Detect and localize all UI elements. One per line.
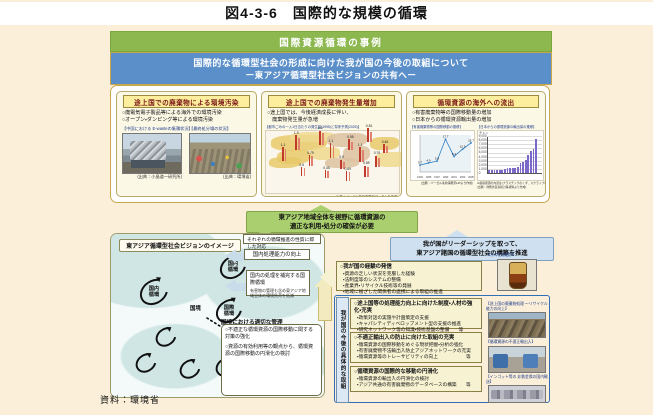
- map-bar: [383, 144, 385, 153]
- bullet: ○日本からの循環資源輸出量の増加: [412, 117, 545, 124]
- panel-pollution: 途上国での廃棄物による環境汚染 ○廃電気電子製品等による海外での環境汚染 ○オー…: [116, 91, 257, 197]
- map-bar-value: 0.55: [347, 135, 354, 139]
- y-tick-label: 7,000: [479, 142, 487, 146]
- action-box-facilitation: ○循環資源の国際的な移動の円滑化 ・循環資源の輸出入の円滑化の検討 ・アジア共通…: [350, 366, 482, 392]
- figure-title: 図4-3-6 国際的な規模の循環: [0, 2, 653, 24]
- map-bar: [298, 138, 300, 149]
- map-bar: [309, 155, 311, 165]
- map-bar: [304, 168, 306, 175]
- experience-heading: ○我が国の経験の発信: [340, 264, 478, 271]
- map-bar: [359, 147, 361, 162]
- center-callout-line1: 東アジア地域全体を視野に循環資源の: [279, 213, 386, 222]
- panel-pollution-title: 途上国での廃棄物による環境汚染: [123, 95, 250, 108]
- map-bar-value: 0.81: [366, 124, 373, 128]
- x-tick-label: 2005: [468, 175, 474, 179]
- x-tick-label: 1993: [417, 175, 423, 179]
- action-item: ・循環資源等のトレーサビリティの向上 等: [354, 354, 478, 360]
- photo-developing-country-recycling: [488, 312, 546, 338]
- source-label: 資料：環境省: [100, 393, 160, 406]
- arrow-left-experience-icon: [320, 265, 334, 289]
- map-bar-value: 1.1: [358, 143, 363, 147]
- bullet: 廃棄物発生量が急増: [267, 117, 401, 124]
- blue-banner: 国際的な循環型社会の形成に向けた我が国の今後の取組について ー東アジア循環型社会…: [110, 52, 552, 85]
- x-tick-label: 1995: [426, 175, 432, 179]
- y-tick-label: 5,000: [479, 150, 487, 154]
- flow-box-international-sub: 有害物の管理も含め東アジア地域全体の環境負荷を低減: [250, 288, 306, 298]
- right-photo-4: 【インゴット等の 非鉄金属の国内輸送】: [486, 375, 548, 403]
- panel-outflow: 循環資源の海外への流出 ○有害廃棄物等の国際移動量の増加 ○日本からの循環資源輸…: [406, 91, 546, 197]
- bar: [522, 162, 524, 174]
- map-bar: [386, 146, 388, 153]
- bullet: ○有害廃棄物等の国際移動量の増加: [412, 110, 545, 117]
- experience-box: ○我が国の経験の発信 ・資源の乏しい状況を克服した経験 ・法制度等のシステムの整…: [336, 261, 482, 291]
- bar: [527, 155, 529, 174]
- map-bar: [362, 150, 364, 162]
- line-point-label: 12.3: [460, 145, 466, 149]
- green-banner-label: 国際資源循環の事例: [279, 35, 383, 49]
- border-bullet: ○資源の有効利用等の観点から、循環資源の国際移動の円滑化の検討: [225, 344, 318, 357]
- x-tick-label: 2001: [451, 175, 457, 179]
- flow-box-top: それぞれの循環推進の性質に即した対応: [243, 234, 321, 244]
- map-bar: [351, 142, 353, 150]
- figure-truck-credit: (出典：小島道一研究所): [122, 174, 182, 180]
- x-tick-label: 2003: [460, 175, 466, 179]
- figure-dump-credit: (出典：環境省): [189, 174, 251, 180]
- panel-waste-growth-title: 途上国での廃棄物発生量増加: [268, 95, 395, 108]
- figure-waste-map-credit: (出典：バーゼル条約事務局データより作成): [265, 194, 398, 197]
- panel-pollution-bullets: ○廃電気電子製品等による海外での環境汚染 ○オープン・ダンピング等による環境汚染: [122, 110, 256, 123]
- right-photo-2-caption: 【途上国の廃棄物処理 ～リサイクル能力の向上】: [486, 302, 548, 311]
- x-tick-label: 1999: [443, 175, 449, 179]
- line-point-label: 4.9: [426, 158, 431, 162]
- y-tick-label: 8,000: [479, 138, 487, 142]
- leadership-line1: 我が国がリーダーシップを取って、: [423, 240, 521, 249]
- center-callout-line2: 適正な利用・処分の確保が必要: [290, 222, 374, 231]
- figure-waste-map-caption: 【都市ごみの一人1日当たりの発生量(1995)と将来予測(2025)】: [265, 124, 399, 129]
- map-bar: [295, 135, 297, 149]
- map-bar: [285, 149, 287, 161]
- y-tick-label: 1,000: [479, 167, 487, 171]
- y-tick-label: 6,000: [479, 146, 487, 150]
- map-bar: [367, 167, 369, 177]
- bullet: ○オープン・ダンピング等による環境汚染: [122, 117, 256, 124]
- gridline: [487, 140, 542, 141]
- map-bar-value: 0.45: [323, 166, 330, 170]
- photo-e-waste-truck: [122, 133, 182, 174]
- line-point-label: 17.7: [443, 135, 449, 139]
- panel-outflow-bullets: ○有害廃棄物等の国際移動量の増加 ○日本からの循環資源輸出量の増加: [412, 110, 545, 123]
- bar: [530, 151, 532, 174]
- figure-truck-caption: 【中国における E-wasteの集積状況】: [122, 126, 184, 132]
- right-photo-3-caption: 【循環資源の不適正輸出入】: [486, 340, 548, 345]
- map-bar: [311, 156, 313, 166]
- figure-canvas: 国際資源循環の事例 国際的な循環型社会の形成に向けた我が国の今後の取組について …: [0, 25, 653, 415]
- line-chart-svg: 3.74.95.917.78.412.315.71993199519971999…: [411, 131, 474, 180]
- map-bar-value: 0.5: [339, 155, 344, 159]
- action-box-capacity: ○途上国等の処理能力向上に向けた制度・人材の強化・充実 ・政策対話の実施や計画策…: [350, 298, 482, 329]
- line-point-label: 5.9: [435, 156, 440, 160]
- leadership-callout-arrow-icon: [446, 230, 468, 237]
- y-tick-label: 0: [479, 171, 481, 175]
- border-bullet: ○不適正な循環資源の国際移動に関する対策の強化: [225, 327, 318, 340]
- map-bar-value: 1.0: [318, 126, 323, 130]
- y-tick-label: 4,000: [479, 155, 487, 159]
- panel-waste-growth-bullets: ○途上国では、今後経済成長に伴い、 廃棄物発生量が急増: [267, 110, 401, 123]
- action-box-illegal-trade: ○不適正輸出入の防止に向けた取組の充実 ・循環資源の国際移動をめぐる現状把握・分…: [350, 332, 482, 363]
- map-bar-value: 0.5: [299, 163, 304, 167]
- line-point-label: 3.7: [418, 161, 423, 165]
- gridline: [487, 136, 542, 137]
- flow-box-capacity: 国内処理能力の向上: [244, 249, 310, 260]
- map-bar-value: 0.79: [307, 151, 314, 155]
- arrow-left-intl-bar: [236, 283, 246, 291]
- border-management-box: ○不適正な循環資源の国際移動に関する対策の強化 ○資源の有効利用等の観点から、循…: [221, 324, 322, 396]
- photo-illegal-export-drums: [488, 346, 546, 373]
- map-bar-value: 0.76: [374, 151, 381, 155]
- chart-hazardous-waste-movement: 3.74.95.917.78.412.315.71993199519971999…: [410, 130, 475, 181]
- chart-waste-generation-map: 1.11.00.791.01.10.50.551.10.810.760.460.…: [265, 130, 400, 194]
- map-bar-value: 0.89: [363, 161, 370, 165]
- map-bar: [378, 158, 380, 167]
- arrow-up-yellow-icon: [318, 285, 332, 321]
- figure-export-credit: (出典：財務省貿易統計等資料より作成): [477, 185, 542, 189]
- figure-export-bar: 【日本からの循環資源の輸出量の推移】 01,0002,0003,0004,000…: [477, 124, 543, 189]
- x-tick-label: 1997: [434, 175, 440, 179]
- y-tick-label: 3,000: [479, 159, 487, 163]
- blue-banner-line2: ー東アジア循環型社会ビジョンの共有へー: [246, 69, 417, 81]
- experience-item: ・地域に根ざした関係者の連携による取組の推進: [340, 289, 478, 295]
- map-bar: [330, 143, 332, 158]
- map-bar: [282, 147, 284, 160]
- action-item: ・アジア共通の有害廃棄物のデータベースの構築 等: [354, 382, 478, 388]
- bar: [533, 149, 535, 174]
- line-point-label: 8.4: [452, 152, 457, 156]
- map-bar: [364, 166, 366, 177]
- bullet: ○廃電気電子製品等による海外での環境汚染: [122, 110, 256, 117]
- map-bar: [349, 172, 351, 181]
- y-axis: [487, 137, 488, 173]
- panel-waste-growth: 途上国での廃棄物発生量増加 ○途上国では、今後経済成長に伴い、 廃棄物発生量が急…: [261, 91, 402, 197]
- map-bar-value: 0.69: [344, 167, 351, 171]
- gridline: [487, 144, 542, 145]
- flow-box-international: 国内の処理を補完する国際循環 有害物の管理も含め東アジア地域全体の環境負荷を低減: [246, 270, 310, 296]
- map-bar-value: 1.1: [329, 139, 334, 143]
- figure-dump-caption: 【最終処分場の状況】: [189, 126, 253, 132]
- y-tick-label: 2,000: [479, 163, 487, 167]
- blue-banner-line1: 国際的な循環型社会の形成に向けた我が国の今後の取組について: [193, 57, 468, 69]
- photo-metal-ingots: [488, 385, 546, 403]
- right-photo-1-caption: 【ガス化溶融炉】: [486, 253, 548, 258]
- chart-japan-resource-export: 01,0002,0003,0004,0005,0006,0007,0008,00…: [477, 130, 544, 181]
- figure-hazmat-caption: 【有害廃棄物等の国際移動の推移】: [410, 124, 474, 129]
- map-bar-value: 1.1: [281, 143, 286, 147]
- map-bar: [346, 171, 348, 181]
- arrow-left-intl-icon: [225, 279, 236, 293]
- map-bar: [322, 133, 324, 144]
- figure-hazmat-credit: (出典：バーゼル条約事務局HPより作成): [410, 181, 473, 185]
- map-bar-value: 1.0: [294, 131, 299, 135]
- panel-outflow-title: 循環資源の海外への流出: [413, 95, 539, 108]
- right-photo-1: 【ガス化溶融炉】: [486, 253, 548, 291]
- right-photo-4-caption: 【インゴット等の 非鉄金属の国内輸送】: [486, 375, 548, 384]
- green-banner: 国際資源循環の事例: [110, 31, 552, 52]
- map-bar: [327, 171, 329, 178]
- center-callout-body: 東アジア地域全体を視野に循環資源の 適正な利用・処分の確保が必要: [246, 211, 418, 233]
- map-bar: [319, 131, 321, 145]
- map-bar: [301, 167, 303, 175]
- photo-landfill: [189, 133, 251, 174]
- bar: [525, 160, 527, 174]
- figure-truck: 【中国における E-wasteの集積状況】 (出典：小島道一研究所): [122, 126, 184, 180]
- figure-export-caption: 【日本からの循環資源の輸出量の推移】: [477, 124, 543, 129]
- action-heading: ○途上国等の処理能力向上に向けた制度・人材の強化・充実: [354, 301, 478, 315]
- right-photo-2: 【途上国の廃棄物処理 ～リサイクル能力の向上】: [486, 302, 548, 338]
- map-bar: [367, 128, 369, 142]
- action-heading: ○不適正輸出入の防止に向けた取組の充実: [354, 335, 478, 342]
- arrow-left-capacity-icon: [225, 249, 236, 263]
- map-bar: [370, 132, 372, 142]
- map-bar: [375, 156, 377, 167]
- y-axis-label: 千トン: [479, 131, 488, 135]
- arrow-left-capacity-bar: [236, 253, 244, 261]
- map-bar-value: 0.46: [382, 140, 389, 144]
- evidence-panel: 途上国での廃棄物による環境汚染 ○廃電気電子製品等による海外での環境汚染 ○オー…: [110, 85, 550, 203]
- x-axis: [487, 173, 542, 174]
- map-bar: [348, 139, 350, 149]
- bullet: ○途上国では、今後経済成長に伴い、: [267, 110, 401, 117]
- figure-waste-map: 【都市ごみの一人1日当たりの発生量(1995)と将来予測(2025)】 1.11…: [265, 124, 399, 197]
- flow-box-international-text: 国内の処理を補完する国際循環: [250, 273, 306, 287]
- map-bar: [325, 170, 327, 178]
- map-bar: [333, 146, 335, 158]
- map-bar: [340, 160, 342, 170]
- figure-hazmat-line: 【有害廃棄物等の国際移動の推移】 3.74.95.917.78.412.315.…: [410, 124, 474, 185]
- center-callout: 東アジア地域全体を視野に循環資源の 適正な利用・処分の確保が必要: [246, 205, 416, 231]
- right-photo-3: 【循環資源の不適正輸出入】: [486, 340, 548, 373]
- vertical-strip-label: 我が国の今後の具体的な取組: [336, 297, 349, 403]
- photo-gasification-furnace: [497, 259, 537, 291]
- figure-dump: 【最終処分場の状況】 (出典：環境省): [189, 126, 253, 180]
- line-point-label: 15.7: [468, 138, 474, 142]
- action-heading: ○循環資源の国際的な移動の円滑化: [354, 369, 478, 376]
- bar: [535, 139, 537, 173]
